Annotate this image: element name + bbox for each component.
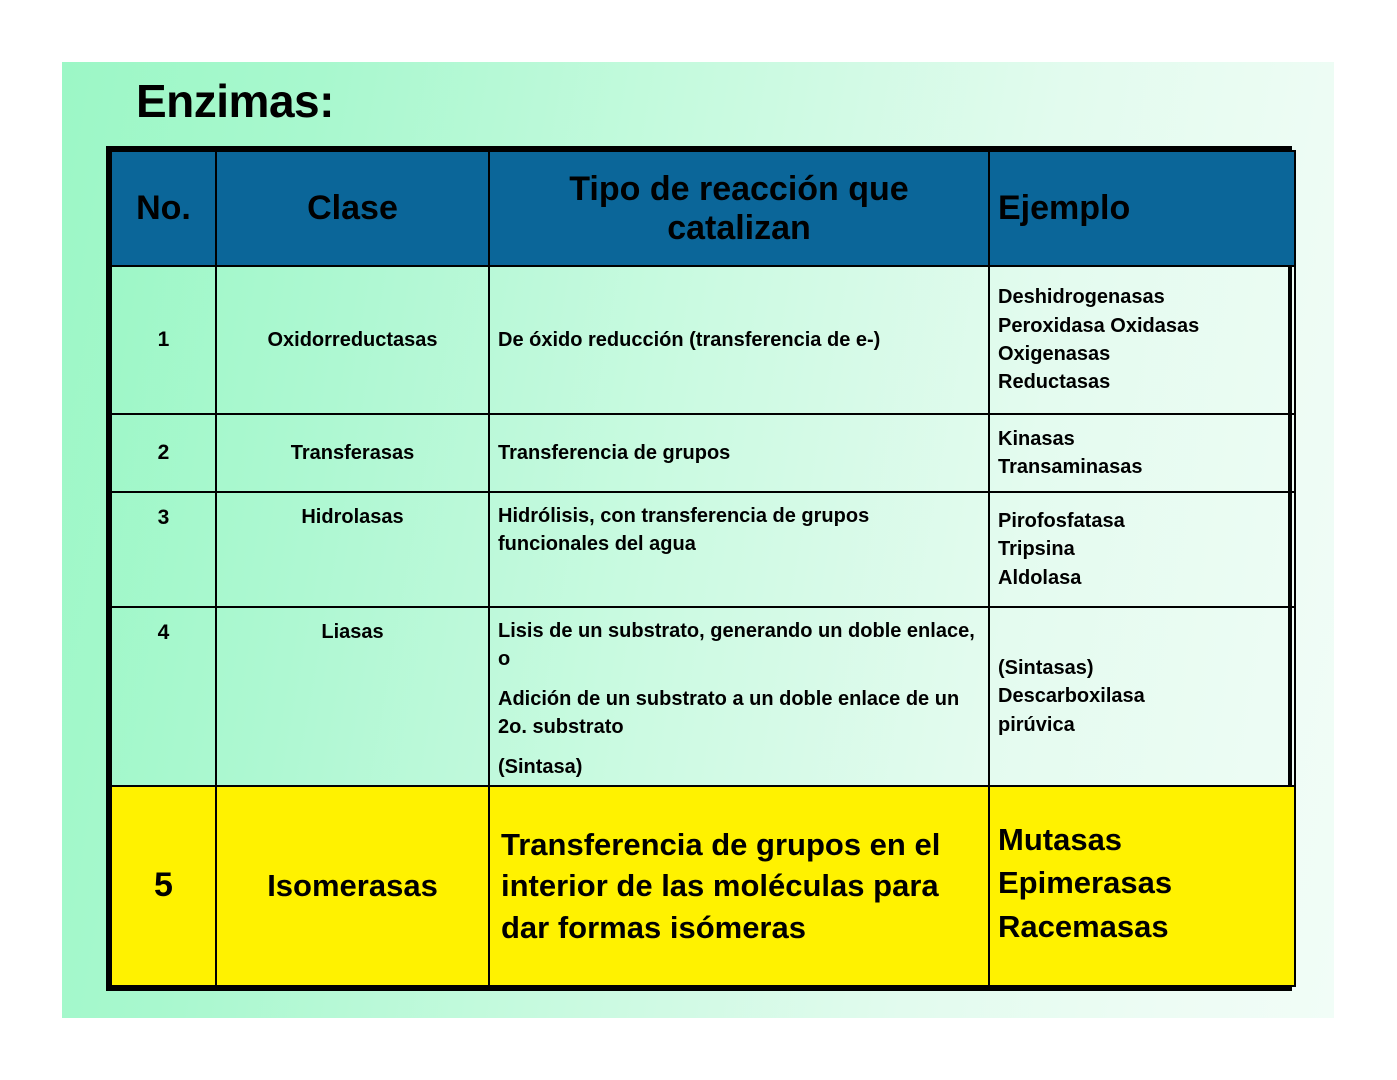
cell-ejemplo-line: Epimerasas (998, 862, 1286, 903)
cell-ejemplo-line: (Sintasas) (998, 654, 1286, 682)
cell-tipo-paragraph: Hidrólisis, con transferencia de grupos … (498, 502, 980, 559)
cell-tipo-paragraph: De óxido reducción (transferencia de e-) (498, 326, 980, 354)
cell-tipo: Lisis de un substrato, generando un dobl… (489, 607, 989, 786)
cell-ejemplo-line: Aldolasa (998, 564, 1286, 592)
cell-ejemplo-line: Pirofosfatasa (998, 507, 1286, 535)
cell-tipo-paragraph: Adición de un substrato a un doble enlac… (498, 685, 980, 742)
cell-tipo: De óxido reducción (transferencia de e-) (489, 266, 989, 414)
cell-ejemplo-line: Oxigenasas (998, 340, 1286, 368)
table-row: 4LiasasLisis de un substrato, generando … (111, 607, 1295, 786)
column-header-tipo: Tipo de reacción que catalizan (489, 151, 989, 266)
cell-ejemplo-line: Racemasas (998, 906, 1286, 947)
cell-tipo-paragraph: Lisis de un substrato, generando un dobl… (498, 617, 980, 674)
table-row: 2TransferasasTransferencia de gruposKina… (111, 414, 1295, 492)
enzyme-classification-table: No. Clase Tipo de reacción que catalizan… (106, 146, 1292, 991)
cell-clase: Oxidorreductasas (216, 266, 489, 414)
slide-canvas: Enzimas: No. Clase Tipo de reacción que … (62, 62, 1334, 1018)
cell-no: 2 (111, 414, 216, 492)
cell-tipo-paragraph: (Sintasa) (498, 753, 980, 781)
cell-ejemplo-line: Peroxidasa Oxidasas (998, 312, 1286, 340)
cell-no: 1 (111, 266, 216, 414)
table-header: No. Clase Tipo de reacción que catalizan… (111, 151, 1295, 266)
page-title: Enzimas: (136, 74, 334, 128)
table-body: 1OxidorreductasasDe óxido reducción (tra… (111, 266, 1295, 986)
cell-tipo: Hidrólisis, con transferencia de grupos … (489, 492, 989, 607)
table: No. Clase Tipo de reacción que catalizan… (110, 150, 1296, 987)
cell-ejemplo: (Sintasas)Descarboxilasapirúvica (989, 607, 1295, 786)
table-header-row: No. Clase Tipo de reacción que catalizan… (111, 151, 1295, 266)
cell-ejemplo: MutasasEpimerasasRacemasas (989, 786, 1295, 986)
column-header-no: No. (111, 151, 216, 266)
cell-ejemplo-line: Transaminasas (998, 453, 1286, 481)
cell-tipo-paragraph: Transferencia de grupos en el interior d… (501, 824, 980, 948)
cell-no: 5 (111, 786, 216, 986)
cell-ejemplo-line: Mutasas (998, 819, 1286, 860)
cell-ejemplo-line: Reductasas (998, 368, 1286, 396)
cell-clase: Isomerasas (216, 786, 489, 986)
cell-tipo: Transferencia de grupos en el interior d… (489, 786, 989, 986)
cell-tipo-paragraph: Transferencia de grupos (498, 439, 980, 467)
cell-clase: Liasas (216, 607, 489, 786)
cell-no: 4 (111, 607, 216, 786)
table-row: 1OxidorreductasasDe óxido reducción (tra… (111, 266, 1295, 414)
column-header-ejemplo: Ejemplo (989, 151, 1295, 266)
column-header-clase: Clase (216, 151, 489, 266)
table-row: 5IsomerasasTransferencia de grupos en el… (111, 786, 1295, 986)
cell-ejemplo-line: Descarboxilasa (998, 682, 1286, 710)
cell-ejemplo: DeshidrogenasasPeroxidasa OxidasasOxigen… (989, 266, 1295, 414)
cell-ejemplo-line: Kinasas (998, 425, 1286, 453)
cell-ejemplo-line: Tripsina (998, 535, 1286, 563)
cell-ejemplo-line: Deshidrogenasas (998, 283, 1286, 311)
cell-clase: Transferasas (216, 414, 489, 492)
cell-ejemplo: PirofosfatasaTripsinaAldolasa (989, 492, 1295, 607)
cell-tipo: Transferencia de grupos (489, 414, 989, 492)
cell-no: 3 (111, 492, 216, 607)
table-row: 3HidrolasasHidrólisis, con transferencia… (111, 492, 1295, 607)
cell-ejemplo: KinasasTransaminasas (989, 414, 1295, 492)
cell-ejemplo-line: pirúvica (998, 711, 1286, 739)
cell-clase: Hidrolasas (216, 492, 489, 607)
